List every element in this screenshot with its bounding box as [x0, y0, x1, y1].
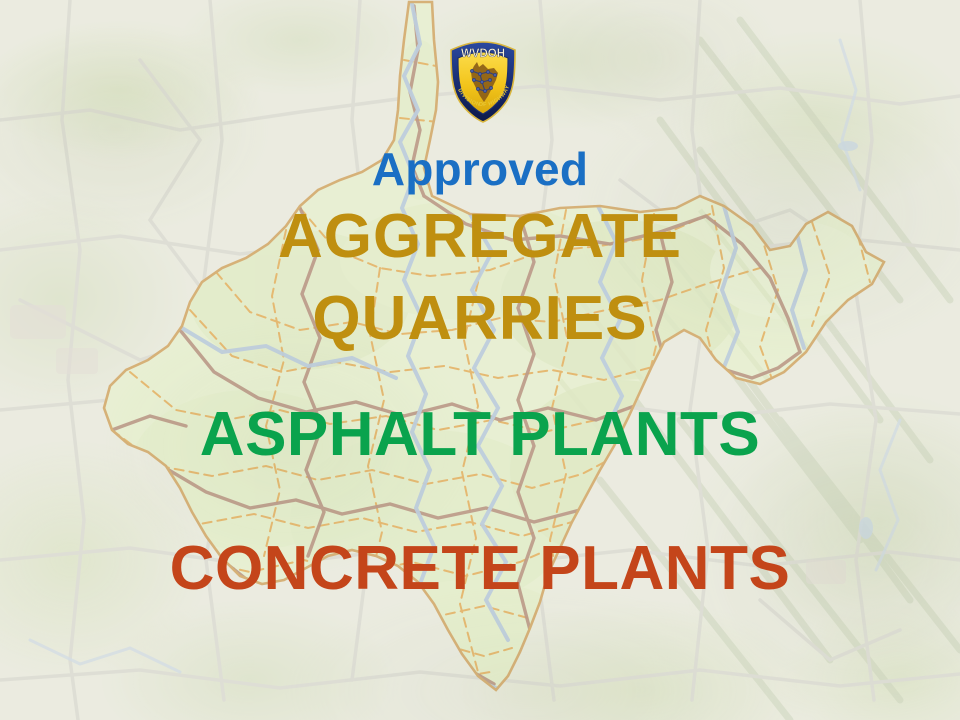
wvdoh-shield-icon: WVDOH DIVISION OF HIGHWAYS [446, 40, 520, 124]
title-asphalt-plants: ASPHALT PLANTS [0, 404, 960, 466]
title-approved: Approved [0, 146, 960, 192]
map-lake [859, 517, 873, 539]
logo-arc-center: OF [478, 102, 487, 108]
title-slide: WVDOH DIVISION OF HIGHWAYS Approved AGGR… [0, 0, 960, 720]
logo-acronym: WVDOH [461, 48, 505, 60]
title-concrete-plants: CONCRETE PLANTS [0, 538, 960, 600]
wvdoh-logo[interactable]: WVDOH DIVISION OF HIGHWAYS [446, 40, 520, 124]
title-aggregate: AGGREGATE [0, 206, 960, 268]
title-quarries: QUARRIES [0, 288, 960, 350]
